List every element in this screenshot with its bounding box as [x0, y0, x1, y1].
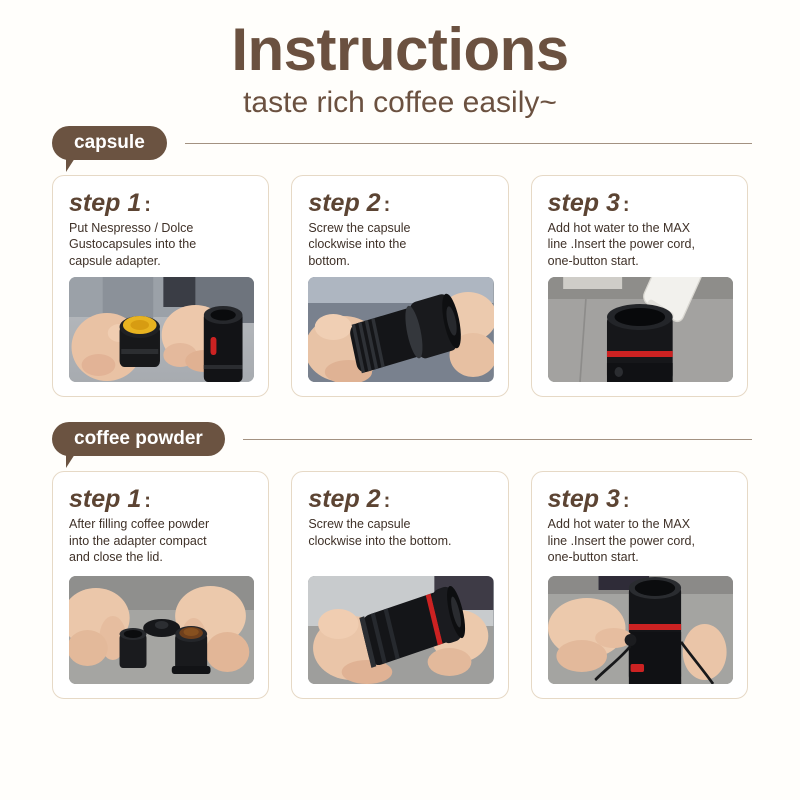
- step-colon: :: [623, 194, 630, 216]
- step-photo-capsule-1: [69, 277, 254, 382]
- step-description-powder-3: Add hot water to the MAX line .Insert th…: [548, 516, 733, 566]
- section-badge-coffee-powder-label: coffee powder: [74, 428, 203, 450]
- step-photo-powder-1: [69, 576, 254, 684]
- step-label-text: step 3: [548, 485, 620, 513]
- step-description-capsule-1: Put Nespresso / Dolce Gustocapsules into…: [69, 220, 254, 270]
- photo-illustration-pour-water: [548, 277, 733, 382]
- section-badge-capsule: capsule: [52, 126, 167, 160]
- step-photo-capsule-3: [548, 277, 733, 382]
- step-label-capsule-1: step 1:: [69, 190, 254, 218]
- section-divider-line: [243, 439, 752, 440]
- step-label-capsule-2: step 2:: [308, 190, 493, 218]
- steps-row-coffee-powder: step 1: After filling coffee powder into…: [0, 471, 800, 699]
- step-card-capsule-1[interactable]: step 1: Put Nespresso / Dolce Gustocapsu…: [52, 175, 269, 397]
- step-label-powder-1: step 1:: [69, 486, 254, 514]
- page-header: Instructions taste rich coffee easily~: [0, 0, 800, 121]
- step-photo-powder-2: [308, 576, 493, 684]
- step-label-capsule-3: step 3:: [548, 190, 733, 218]
- step-description-capsule-2: Screw the capsule clockwise into the bot…: [308, 220, 493, 270]
- step-card-powder-2[interactable]: step 2: Screw the capsule clockwise into…: [291, 471, 508, 699]
- section-divider-line: [185, 143, 752, 144]
- steps-row-capsule: step 1: Put Nespresso / Dolce Gustocapsu…: [0, 175, 800, 397]
- page-title: Instructions: [0, 18, 800, 81]
- photo-illustration-fill-coffee-powder: [69, 576, 254, 684]
- step-description-powder-1: After filling coffee powder into the ada…: [69, 516, 254, 566]
- step-label-text: step 2: [308, 189, 380, 217]
- step-label-powder-3: step 3:: [548, 486, 733, 514]
- photo-illustration-press-start-button: [548, 576, 733, 684]
- step-colon: :: [144, 490, 151, 512]
- step-colon: :: [384, 490, 391, 512]
- step-card-powder-3[interactable]: step 3: Add hot water to the MAX line .I…: [531, 471, 748, 699]
- step-colon: :: [623, 490, 630, 512]
- step-card-capsule-2[interactable]: step 2: Screw the capsule clockwise into…: [291, 175, 508, 397]
- step-label-text: step 3: [548, 189, 620, 217]
- step-card-capsule-3[interactable]: step 3: Add hot water to the MAX line .I…: [531, 175, 748, 397]
- page-subtitle: taste rich coffee easily~: [0, 85, 800, 121]
- section-header-coffee-powder: coffee powder: [52, 417, 800, 461]
- step-photo-capsule-2: [308, 277, 493, 382]
- speech-bubble-tail-icon: [66, 454, 82, 468]
- section-header-capsule: capsule: [52, 121, 800, 165]
- speech-bubble-tail-icon: [66, 158, 82, 172]
- step-label-powder-2: step 2:: [308, 486, 493, 514]
- section-badge-capsule-label: capsule: [74, 132, 145, 154]
- photo-illustration-screw-machine-red-ring: [308, 576, 493, 684]
- section-badge-coffee-powder: coffee powder: [52, 422, 225, 456]
- photo-illustration-screw-capsule: [308, 277, 493, 382]
- step-photo-powder-3: [548, 576, 733, 684]
- step-label-text: step 1: [69, 485, 141, 513]
- step-label-text: step 2: [308, 485, 380, 513]
- step-colon: :: [384, 194, 391, 216]
- step-colon: :: [144, 194, 151, 216]
- step-label-text: step 1: [69, 189, 141, 217]
- step-card-powder-1[interactable]: step 1: After filling coffee powder into…: [52, 471, 269, 699]
- photo-illustration-capsule-adapter: [69, 277, 254, 382]
- step-description-capsule-3: Add hot water to the MAX line .Insert th…: [548, 220, 733, 270]
- step-description-powder-2: Screw the capsule clockwise into the bot…: [308, 516, 493, 549]
